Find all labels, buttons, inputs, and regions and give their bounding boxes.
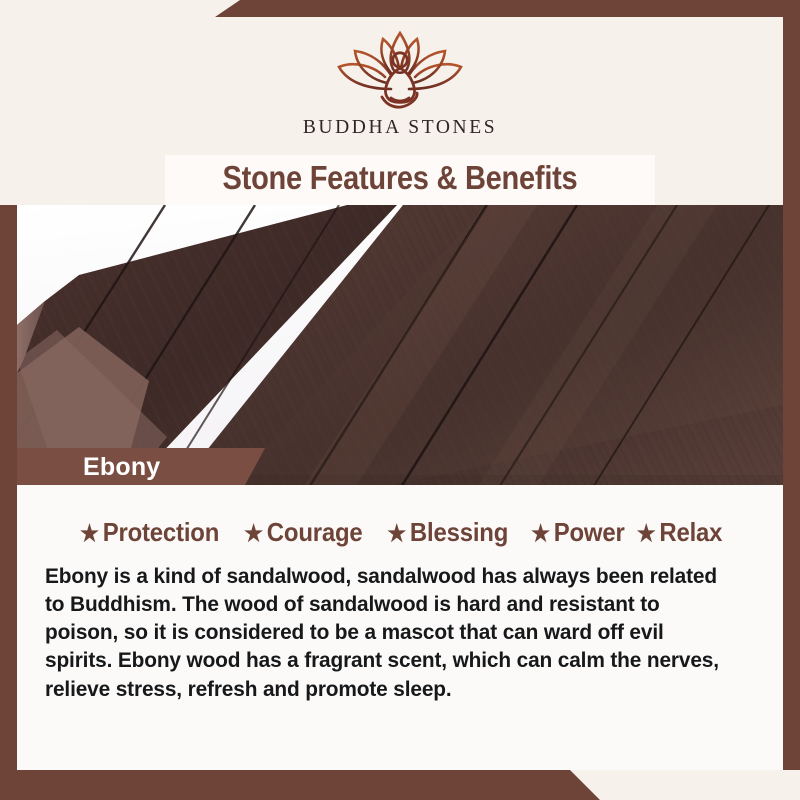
benefit-label: Relax <box>659 517 722 548</box>
star-icon: ★ <box>387 522 406 545</box>
benefits-list: ★ Protection ★ Courage ★ Blessing ★ Powe… <box>17 485 783 548</box>
benefit-label: Power <box>554 517 625 548</box>
infographic-card: BUDDHA STONES Stone Features & Benefits <box>0 0 800 800</box>
card-surface: BUDDHA STONES Stone Features & Benefits <box>17 17 783 770</box>
benefit-label: Protection <box>103 517 219 548</box>
benefit-item: ★ Power <box>531 517 625 548</box>
star-icon: ★ <box>531 522 550 545</box>
star-icon: ★ <box>637 522 656 545</box>
benefit-label: Courage <box>267 517 363 548</box>
frame-band-left <box>0 205 17 800</box>
star-icon: ★ <box>80 522 99 545</box>
frame-band-top <box>215 0 800 17</box>
brand-header: BUDDHA STONES <box>17 17 783 145</box>
content-section: ★ Protection ★ Courage ★ Blessing ★ Powe… <box>17 485 783 770</box>
benefit-label: Blessing <box>410 517 508 548</box>
frame-band-bottom <box>0 770 600 800</box>
lotus-meditation-figure-icon <box>325 27 475 115</box>
benefit-item: ★ Relax <box>637 517 723 548</box>
product-label: Ebony <box>83 453 160 482</box>
star-icon: ★ <box>244 522 263 545</box>
benefit-item: ★ Courage <box>244 517 362 548</box>
brand-name: BUDDHA STONES <box>303 117 497 139</box>
benefit-item: ★ Blessing <box>387 517 508 548</box>
frame-band-right <box>783 0 800 770</box>
page-title: Stone Features & Benefits <box>63 159 737 197</box>
description-text: Ebony is a kind of sandalwood, sandalwoo… <box>45 562 734 703</box>
benefit-item: ★ Protection <box>80 517 219 548</box>
